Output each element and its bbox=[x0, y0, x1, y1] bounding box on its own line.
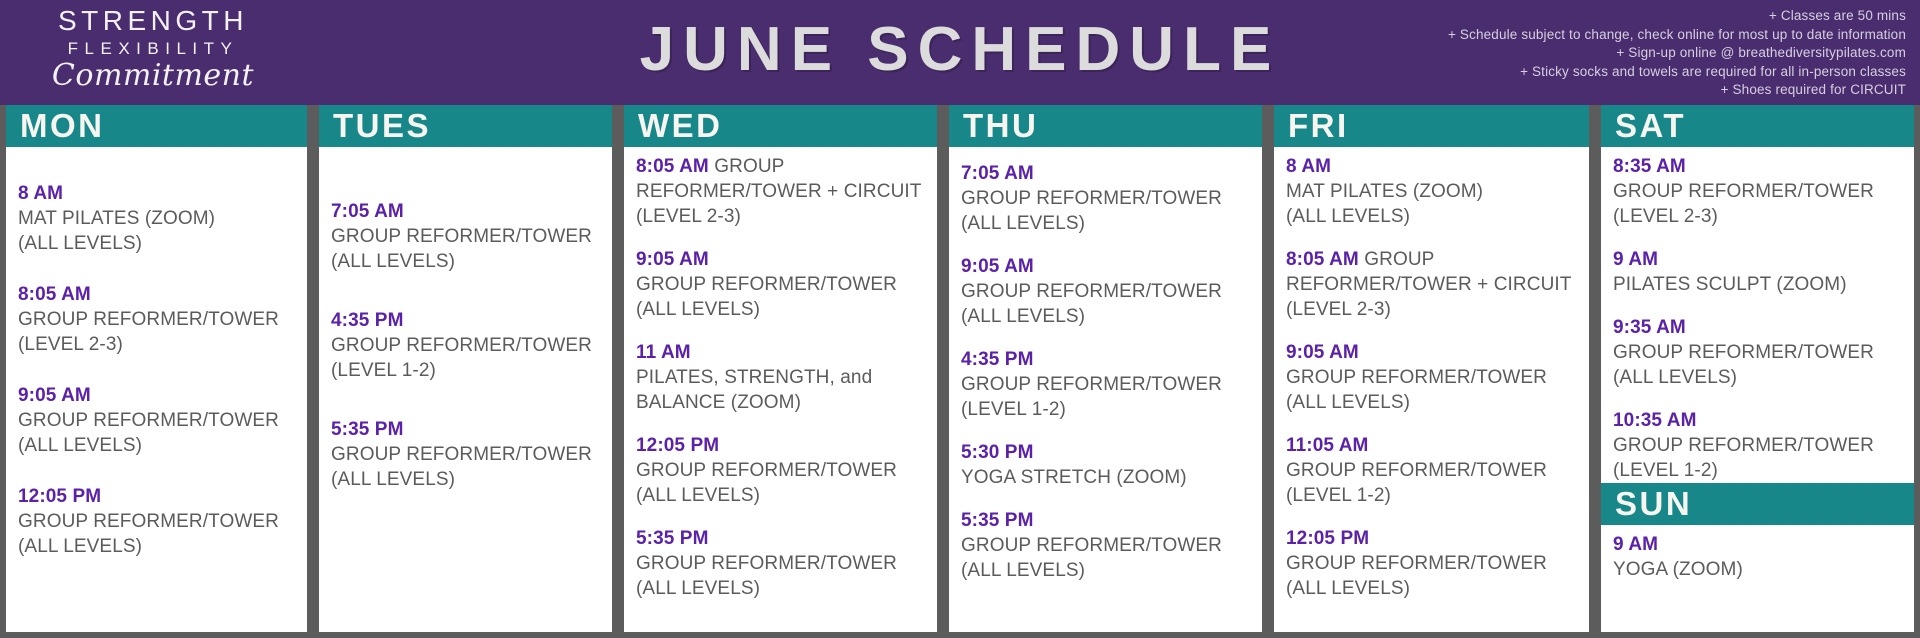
slot-time: 10:35 AM bbox=[1613, 410, 1697, 431]
slot-class: PILATES, STRENGTH, and BALANCE (ZOOM) bbox=[636, 367, 872, 413]
slot-level: (LEVEL 1-2) bbox=[331, 358, 600, 383]
note-item: + Classes are 50 mins bbox=[1448, 7, 1906, 26]
class-slot[interactable]: 9:05 AM GROUP REFORMER/TOWER (ALL LEVELS… bbox=[1286, 340, 1577, 415]
class-slot[interactable]: 12:05 PM GROUP REFORMER/TOWER (ALL LEVEL… bbox=[636, 433, 925, 508]
day-header-wrap-tues: TUES bbox=[313, 105, 618, 147]
class-slot[interactable]: 11:05 AM GROUP REFORMER/TOWER (LEVEL 1-2… bbox=[1286, 433, 1577, 508]
slot-level: (ALL LEVELS) bbox=[636, 576, 925, 601]
slot-class: MAT PILATES (ZOOM) bbox=[18, 206, 295, 231]
class-slot[interactable]: 8:05 AM GROUP REFORMER/TOWER (LEVEL 2-3) bbox=[18, 282, 295, 357]
slot-level: (LEVEL 1-2) bbox=[1613, 458, 1902, 483]
slot-time: 11:05 AM bbox=[1286, 435, 1368, 456]
day-column-tues: TUES 7:05 AM GROUP REFORMER/TOWER (ALL L… bbox=[313, 105, 618, 638]
class-slot[interactable]: 5:35 PM GROUP REFORMER/TOWER (ALL LEVELS… bbox=[636, 526, 925, 601]
slot-class: GROUP REFORMER/TOWER bbox=[1613, 179, 1902, 204]
slot-class: YOGA (ZOOM) bbox=[1613, 557, 1902, 582]
spacer bbox=[1286, 147, 1577, 154]
slot-level: (ALL LEVELS) bbox=[961, 558, 1250, 583]
class-slot[interactable]: 11 AM PILATES, STRENGTH, and BALANCE (ZO… bbox=[636, 340, 925, 415]
day-header-wrap-fri: FRI bbox=[1268, 105, 1595, 147]
day-header-wrap-mon: MON bbox=[0, 105, 313, 147]
class-slot[interactable]: 5:30 PM YOGA STRETCH (ZOOM) bbox=[961, 440, 1250, 490]
note-item: + Schedule subject to change, check onli… bbox=[1448, 26, 1906, 45]
slot-level: (ALL LEVELS) bbox=[961, 304, 1250, 329]
slot-level: (ALL LEVELS) bbox=[1286, 204, 1577, 229]
spacer bbox=[18, 147, 295, 181]
day-column-thu: THU 7:05 AM GROUP REFORMER/TOWER (ALL LE… bbox=[943, 105, 1268, 638]
spacer bbox=[1286, 508, 1577, 526]
slot-time: 8:05 AM bbox=[636, 156, 709, 177]
class-slot[interactable]: 9:05 AM GROUP REFORMER/TOWER (ALL LEVELS… bbox=[961, 254, 1250, 329]
spacer bbox=[331, 147, 600, 199]
day-header-tues: TUES bbox=[319, 105, 612, 147]
slot-time: 12:05 PM bbox=[1286, 528, 1369, 549]
spacer bbox=[18, 458, 295, 484]
spacer bbox=[961, 236, 1250, 254]
class-slot[interactable]: 8:35 AM GROUP REFORMER/TOWER (LEVEL 2-3) bbox=[1613, 154, 1902, 229]
spacer bbox=[1613, 297, 1902, 315]
spacer bbox=[961, 329, 1250, 347]
slot-time: 4:35 PM bbox=[961, 349, 1034, 370]
day-header-mon: MON bbox=[6, 105, 307, 147]
slot-time: 5:30 PM bbox=[961, 442, 1034, 463]
class-slot[interactable]: 9:05 AM GROUP REFORMER/TOWER (ALL LEVELS… bbox=[18, 383, 295, 458]
spacer bbox=[18, 256, 295, 282]
class-slot[interactable]: 7:05 AM GROUP REFORMER/TOWER (ALL LEVELS… bbox=[961, 161, 1250, 236]
spacer bbox=[961, 147, 1250, 161]
day-header-wed: WED bbox=[624, 105, 937, 147]
spacer bbox=[636, 322, 925, 340]
slot-class: MAT PILATES (ZOOM) bbox=[1286, 179, 1577, 204]
note-item: + Shoes required for CIRCUIT bbox=[1448, 81, 1906, 100]
day-column-wed: WED 8:05 AM GROUP REFORMER/TOWER + CIRCU… bbox=[618, 105, 943, 638]
slot-level: (ALL LEVELS) bbox=[1286, 576, 1577, 601]
day-body-fri: 8 AM MAT PILATES (ZOOM) (ALL LEVELS) 8:0… bbox=[1268, 147, 1595, 638]
slot-class: GROUP REFORMER/TOWER bbox=[331, 224, 600, 249]
slot-time: 8 AM bbox=[18, 183, 63, 204]
slot-class: GROUP REFORMER/TOWER bbox=[1613, 340, 1902, 365]
spacer bbox=[331, 274, 600, 308]
day-header-wrap-sat: SAT bbox=[1595, 105, 1920, 147]
slot-class: PILATES SCULPT (ZOOM) bbox=[1613, 272, 1902, 297]
day-body-mon: 8 AM MAT PILATES (ZOOM) (ALL LEVELS) 8:0… bbox=[0, 147, 313, 638]
day-body-thu: 7:05 AM GROUP REFORMER/TOWER (ALL LEVELS… bbox=[943, 147, 1268, 638]
page-header: STRENGTH FLEXIBILITY Commitment JUNE SCH… bbox=[0, 0, 1920, 105]
slot-time: 8:05 AM bbox=[18, 284, 91, 305]
header-notes: + Classes are 50 mins + Schedule subject… bbox=[1448, 7, 1906, 100]
slot-time: 7:05 AM bbox=[331, 201, 404, 222]
slot-time: 5:35 PM bbox=[636, 528, 709, 549]
class-slot[interactable]: 5:35 PM GROUP REFORMER/TOWER (ALL LEVELS… bbox=[961, 508, 1250, 583]
slot-level: (LEVEL 2-3) bbox=[18, 332, 295, 357]
slot-class: GROUP REFORMER/TOWER bbox=[331, 333, 600, 358]
day-body-sat: 8:35 AM GROUP REFORMER/TOWER (LEVEL 2-3)… bbox=[1595, 147, 1920, 638]
class-slot[interactable]: 5:35 PM GROUP REFORMER/TOWER (ALL LEVELS… bbox=[331, 417, 600, 492]
slot-time: 9 AM bbox=[1613, 534, 1658, 555]
day-header-sun: SUN bbox=[1601, 483, 1914, 525]
slot-level: (ALL LEVELS) bbox=[331, 249, 600, 274]
slot-class: YOGA STRETCH (ZOOM) bbox=[961, 465, 1250, 490]
day-column-fri: FRI 8 AM MAT PILATES (ZOOM) (ALL LEVELS)… bbox=[1268, 105, 1595, 638]
spacer bbox=[18, 357, 295, 383]
slot-level: (ALL LEVELS) bbox=[636, 297, 925, 322]
slot-class: GROUP REFORMER/TOWER bbox=[1286, 458, 1577, 483]
day-body-sun: 9 AM YOGA (ZOOM) bbox=[1613, 525, 1902, 582]
slot-level: (ALL LEVELS) bbox=[1613, 365, 1902, 390]
slot-level: (ALL LEVELS) bbox=[18, 231, 295, 256]
spacer bbox=[961, 490, 1250, 508]
slot-time: 12:05 PM bbox=[636, 435, 719, 456]
class-slot[interactable]: 9:35 AM GROUP REFORMER/TOWER (ALL LEVELS… bbox=[1613, 315, 1902, 390]
slot-class: GROUP REFORMER/TOWER bbox=[1613, 433, 1902, 458]
slot-time: 9 AM bbox=[1613, 249, 1658, 270]
slot-level: (LEVEL 1-2) bbox=[961, 397, 1250, 422]
spacer bbox=[1613, 390, 1902, 408]
slot-level: (ALL LEVELS) bbox=[18, 433, 295, 458]
slot-time: 11 AM bbox=[636, 342, 691, 363]
class-slot[interactable]: 9 AM YOGA (ZOOM) bbox=[1613, 532, 1902, 582]
day-header-sat: SAT bbox=[1601, 105, 1914, 147]
schedule-grid: MON 8 AM MAT PILATES (ZOOM) (ALL LEVELS)… bbox=[0, 105, 1920, 638]
spacer bbox=[636, 229, 925, 247]
slot-class: GROUP REFORMER/TOWER bbox=[1286, 551, 1577, 576]
slot-class: GROUP REFORMER/TOWER bbox=[961, 186, 1250, 211]
class-slot[interactable]: 9:05 AM GROUP REFORMER/TOWER (ALL LEVELS… bbox=[636, 247, 925, 322]
slot-level: (LEVEL 2-3) bbox=[1286, 299, 1391, 320]
class-slot[interactable]: 8 AM MAT PILATES (ZOOM) (ALL LEVELS) bbox=[18, 181, 295, 256]
spacer bbox=[1613, 229, 1902, 247]
spacer bbox=[331, 383, 600, 417]
note-item: + Sign-up online @ breathediversitypilat… bbox=[1448, 44, 1906, 63]
class-slot[interactable]: 7:05 AM GROUP REFORMER/TOWER (ALL LEVELS… bbox=[331, 199, 600, 274]
slot-level: (LEVEL 1-2) bbox=[1286, 483, 1577, 508]
slot-class: GROUP REFORMER/TOWER bbox=[331, 442, 600, 467]
schedule-page: STRENGTH FLEXIBILITY Commitment JUNE SCH… bbox=[0, 0, 1920, 638]
slot-class: GROUP REFORMER/TOWER bbox=[636, 551, 925, 576]
day-header-thu: THU bbox=[949, 105, 1262, 147]
slot-class: GROUP REFORMER/TOWER bbox=[636, 272, 925, 297]
class-slot[interactable]: 8 AM MAT PILATES (ZOOM) (ALL LEVELS) bbox=[1286, 154, 1577, 229]
slot-class: GROUP REFORMER/TOWER bbox=[18, 408, 295, 433]
spacer bbox=[1286, 322, 1577, 340]
slot-time: 9:05 AM bbox=[961, 256, 1034, 277]
slot-time: 9:05 AM bbox=[1286, 342, 1359, 363]
slot-time: 9:35 AM bbox=[1613, 317, 1686, 338]
class-slot[interactable]: 4:35 PM GROUP REFORMER/TOWER (LEVEL 1-2) bbox=[331, 308, 600, 383]
slot-class: GROUP REFORMER/TOWER bbox=[18, 509, 295, 534]
spacer bbox=[961, 422, 1250, 440]
slot-level: (ALL LEVELS) bbox=[961, 211, 1250, 236]
slot-level: (ALL LEVELS) bbox=[331, 467, 600, 492]
slot-level: (ALL LEVELS) bbox=[1286, 390, 1577, 415]
slot-class: GROUP REFORMER/TOWER bbox=[636, 458, 925, 483]
day-header-fri: FRI bbox=[1274, 105, 1589, 147]
slot-level: (ALL LEVELS) bbox=[18, 534, 295, 559]
slot-level: (LEVEL 2-3) bbox=[636, 206, 741, 227]
spacer bbox=[636, 147, 925, 154]
class-slot[interactable]: 12:05 PM GROUP REFORMER/TOWER (ALL LEVEL… bbox=[18, 484, 295, 559]
day-body-wed: 8:05 AM GROUP REFORMER/TOWER + CIRCUIT (… bbox=[618, 147, 943, 638]
spacer bbox=[636, 415, 925, 433]
class-slot[interactable]: 8:05 AM GROUP REFORMER/TOWER + CIRCUIT (… bbox=[1286, 247, 1577, 322]
slot-class: GROUP REFORMER/TOWER bbox=[961, 279, 1250, 304]
slot-class: GROUP REFORMER/TOWER bbox=[961, 372, 1250, 397]
spacer bbox=[1613, 147, 1902, 154]
slot-level: (LEVEL 2-3) bbox=[1613, 204, 1902, 229]
slot-class: GROUP REFORMER/TOWER bbox=[961, 533, 1250, 558]
day-header-wrap-thu: THU bbox=[943, 105, 1268, 147]
class-slot[interactable]: 12:05 PM GROUP REFORMER/TOWER (ALL LEVEL… bbox=[1286, 526, 1577, 601]
slot-class: GROUP REFORMER/TOWER bbox=[1286, 365, 1577, 390]
class-slot[interactable]: 4:35 PM GROUP REFORMER/TOWER (LEVEL 1-2) bbox=[961, 347, 1250, 422]
class-slot[interactable]: 8:05 AM GROUP REFORMER/TOWER + CIRCUIT (… bbox=[636, 154, 925, 229]
spacer bbox=[636, 508, 925, 526]
day-column-mon: MON 8 AM MAT PILATES (ZOOM) (ALL LEVELS)… bbox=[0, 105, 313, 638]
slot-time: 8:05 AM bbox=[1286, 249, 1359, 270]
note-item: + Sticky socks and towels are required f… bbox=[1448, 63, 1906, 82]
spacer bbox=[1286, 415, 1577, 433]
slot-time: 4:35 PM bbox=[331, 310, 404, 331]
slot-time: 9:05 AM bbox=[636, 249, 709, 270]
slot-level: (ALL LEVELS) bbox=[636, 483, 925, 508]
day-body-tues: 7:05 AM GROUP REFORMER/TOWER (ALL LEVELS… bbox=[313, 147, 618, 638]
slot-time: 12:05 PM bbox=[18, 486, 101, 507]
spacer bbox=[1286, 229, 1577, 247]
slot-class: GROUP REFORMER/TOWER bbox=[18, 307, 295, 332]
day-header-wrap-wed: WED bbox=[618, 105, 943, 147]
day-column-sat: SAT 8:35 AM GROUP REFORMER/TOWER (LEVEL … bbox=[1595, 105, 1920, 638]
slot-time: 5:35 PM bbox=[331, 419, 404, 440]
slot-time: 7:05 AM bbox=[961, 163, 1034, 184]
class-slot[interactable]: 10:35 AM GROUP REFORMER/TOWER (LEVEL 1-2… bbox=[1613, 408, 1902, 483]
slot-time: 8 AM bbox=[1286, 156, 1331, 177]
class-slot[interactable]: 9 AM PILATES SCULPT (ZOOM) bbox=[1613, 247, 1902, 297]
slot-time: 5:35 PM bbox=[961, 510, 1034, 531]
slot-time: 9:05 AM bbox=[18, 385, 91, 406]
slot-time: 8:35 AM bbox=[1613, 156, 1686, 177]
